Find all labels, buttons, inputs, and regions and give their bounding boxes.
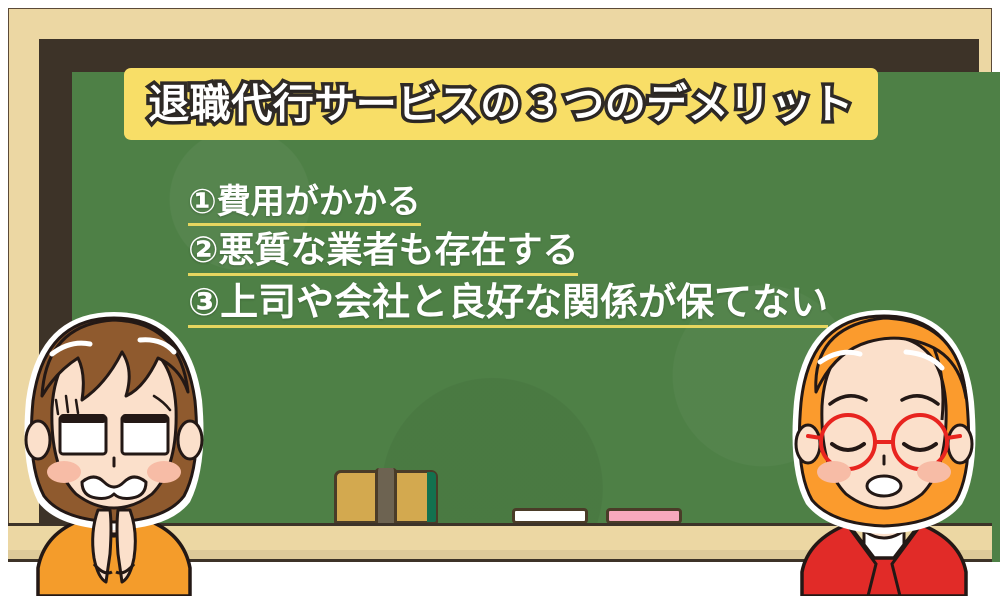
eraser-felt (375, 468, 397, 524)
list-item: ①費用がかかる (188, 184, 888, 226)
list-item-label: ③上司や会社と良好な関係が保てない (188, 282, 828, 328)
list-item-label: ①費用がかかる (188, 184, 421, 226)
white-chalk-icon (512, 508, 588, 524)
page-title: 退職代行サービスの３つのデメリット (148, 84, 854, 125)
pink-chalk-icon (606, 508, 682, 524)
list-item: ②悪質な業者も存在する (188, 232, 888, 276)
character-right (764, 296, 1000, 596)
eraser-spine (427, 472, 436, 522)
slide-canvas: 退職代行サービスの３つのデメリット ①費用がかかる ②悪質な業者も存在する ③上… (0, 0, 1000, 596)
blackboard-eraser-icon (334, 470, 438, 524)
title-plate: 退職代行サービスの３つのデメリット (124, 68, 878, 140)
character-left (0, 296, 234, 596)
list-item-label: ②悪質な業者も存在する (188, 232, 578, 276)
